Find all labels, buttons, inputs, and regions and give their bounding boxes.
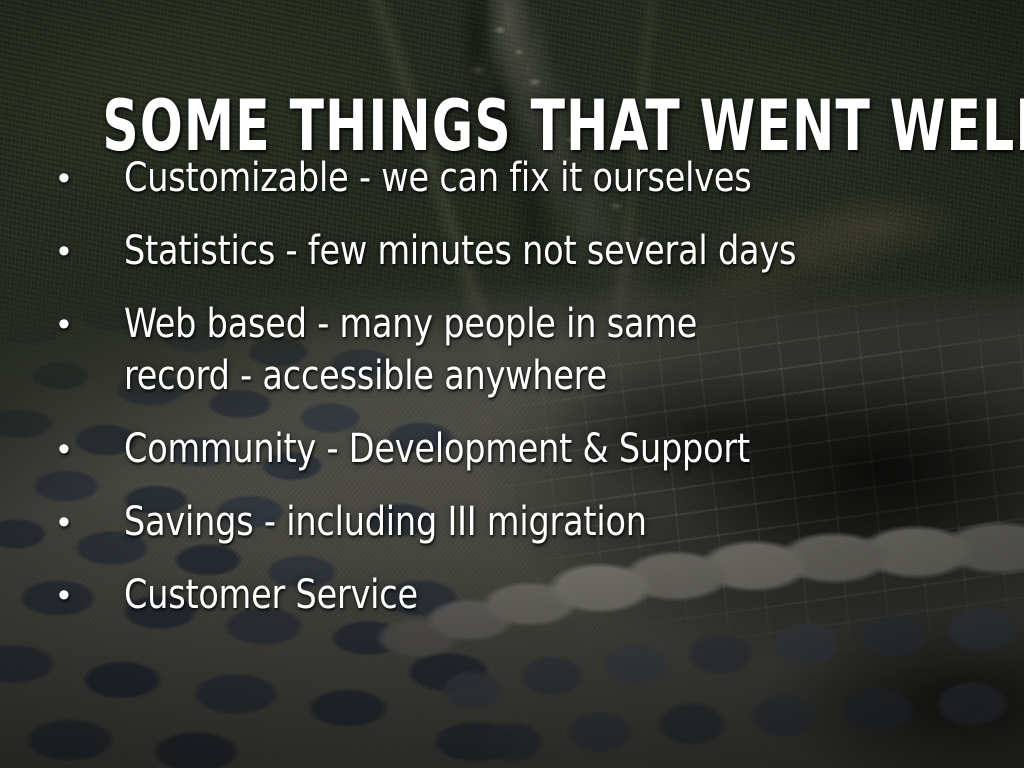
bullet-point-icon: •	[52, 569, 124, 621]
list-item-label: Community - Development & Support	[124, 423, 924, 475]
list-item: • Customer Service	[52, 569, 984, 621]
list-item-label: Customer Service	[124, 569, 924, 621]
list-item: • Community - Development & Support	[52, 423, 984, 475]
bullet-list: • Customizable - we can fix it ourselves…	[52, 152, 984, 642]
list-item-label: Web based - many people in same record -…	[124, 298, 756, 402]
bullet-point-icon: •	[52, 152, 124, 204]
list-item-label: Statistics - few minutes not several day…	[124, 225, 924, 277]
list-item-label: Customizable - we can fix it ourselves	[124, 152, 924, 204]
slide-content: SOME THINGS THAT WENT WELL • Customizabl…	[0, 0, 1024, 768]
bullet-point-icon: •	[52, 298, 124, 350]
list-item: • Customizable - we can fix it ourselves	[52, 152, 984, 204]
list-item: • Savings - including III migration	[52, 496, 984, 548]
list-item-label: Savings - including III migration	[124, 496, 924, 548]
bullet-point-icon: •	[52, 496, 124, 548]
bullet-point-icon: •	[52, 423, 124, 475]
bullet-point-icon: •	[52, 225, 124, 277]
list-item: • Web based - many people in same record…	[52, 298, 984, 402]
list-item: • Statistics - few minutes not several d…	[52, 225, 984, 277]
presentation-slide: SOME THINGS THAT WENT WELL • Customizabl…	[0, 0, 1024, 768]
slide-title: SOME THINGS THAT WENT WELL	[102, 91, 921, 161]
